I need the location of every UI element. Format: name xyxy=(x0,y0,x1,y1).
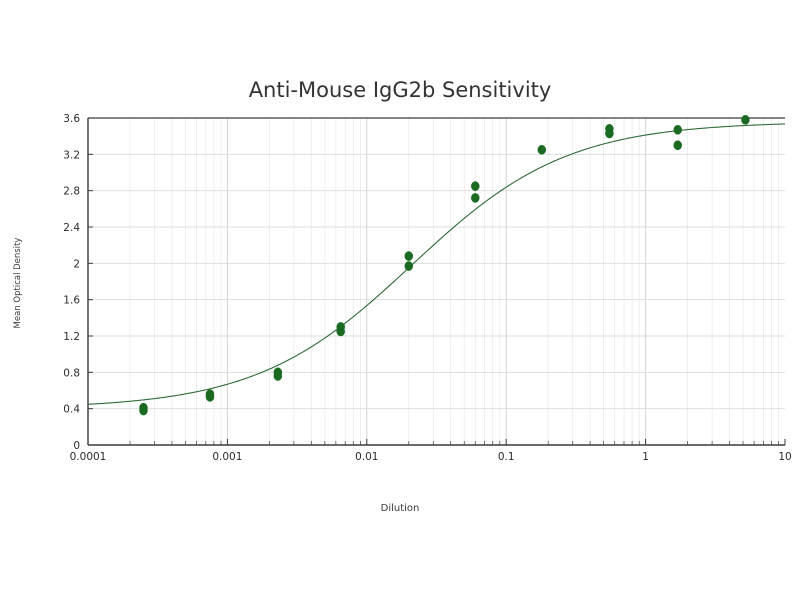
y-tick-label: 0.8 xyxy=(63,367,80,379)
x-axis-ticks xyxy=(88,439,785,445)
fit-curve xyxy=(88,124,785,404)
y-tick-label: 0.4 xyxy=(63,404,80,416)
x-tick-label: 1 xyxy=(642,451,649,463)
x-tick-label: 0.1 xyxy=(498,451,515,463)
plot-area: 0.00010.0010.010.1110 00.40.81.21.622.42… xyxy=(0,0,800,600)
x-axis-tick-labels: 0.00010.0010.010.1110 xyxy=(70,451,792,463)
y-tick-label: 2.8 xyxy=(63,186,80,198)
y-axis-ticks xyxy=(88,118,93,445)
x-tick-label: 0.01 xyxy=(355,451,378,463)
y-tick-label: 1.2 xyxy=(63,331,80,343)
data-point-markers xyxy=(139,115,749,415)
y-tick-label: 1.6 xyxy=(63,295,80,307)
y-tick-label: 2.4 xyxy=(63,222,80,234)
x-tick-label: 10 xyxy=(778,451,791,463)
x-tick-label: 0.0001 xyxy=(70,451,107,463)
y-axis-tick-labels: 00.40.81.21.622.42.83.23.6 xyxy=(63,113,80,452)
x-tick-label: 0.001 xyxy=(212,451,242,463)
plot-frame xyxy=(88,118,785,445)
y-tick-label: 3.6 xyxy=(63,113,80,125)
y-tick-label: 0 xyxy=(73,440,80,452)
chart-figure: Anti-Mouse IgG2b Sensitivity Mean Optica… xyxy=(0,0,800,600)
y-tick-label: 3.2 xyxy=(63,149,80,161)
major-gridlines xyxy=(88,118,785,445)
y-tick-label: 2 xyxy=(73,258,80,270)
